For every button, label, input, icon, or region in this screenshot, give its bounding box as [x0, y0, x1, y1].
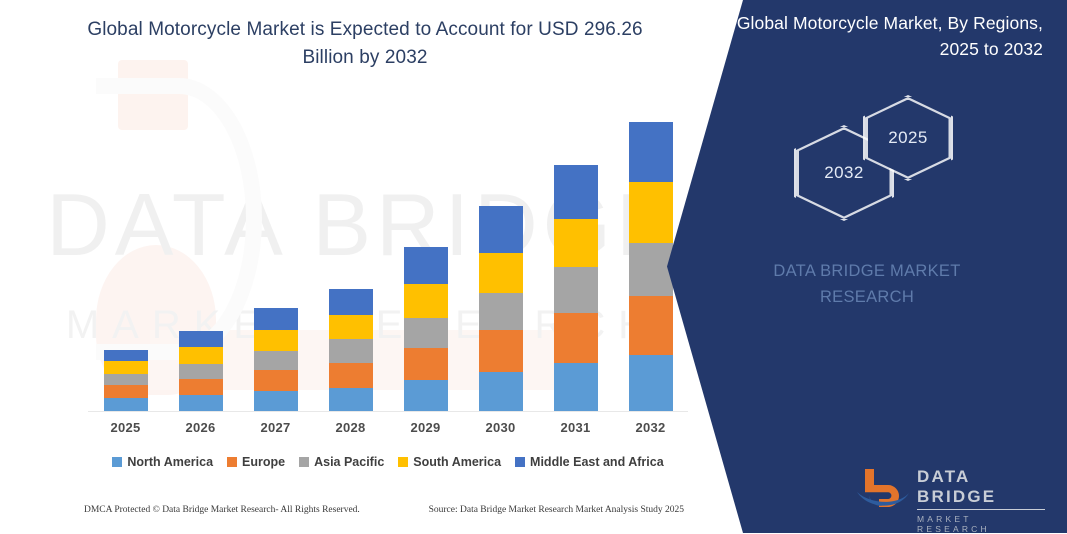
- bar-segment: [629, 355, 673, 411]
- bar-segment: [479, 330, 523, 371]
- x-axis-label-2031: 2031: [538, 420, 613, 435]
- infographic-root: DATA BRIDGE MARKET RESEARCH Global Motor…: [0, 0, 1067, 533]
- bar-segment: [479, 206, 523, 253]
- bar-segment: [104, 350, 148, 361]
- logo-title: DATA BRIDGE: [917, 467, 1045, 510]
- bar-segment: [104, 361, 148, 374]
- x-axis-label-2029: 2029: [388, 420, 463, 435]
- panel-heading: Global Motorcycle Market, By Regions, 20…: [723, 10, 1043, 62]
- logo-subtitle: MARKET RESEARCH: [917, 514, 1045, 534]
- bar-segment: [329, 388, 373, 411]
- bar-segment: [629, 122, 673, 182]
- x-axis-label-2025: 2025: [88, 420, 163, 435]
- logo-b-icon: [855, 465, 911, 509]
- bar-column-2029: [388, 118, 463, 411]
- bar-segment: [479, 293, 523, 330]
- bar-segment: [404, 348, 448, 381]
- bar-column-2026: [163, 118, 238, 411]
- bar-segment: [329, 339, 373, 362]
- hex-badge-2032-label: 2032: [824, 163, 863, 183]
- legend-swatch-icon: [398, 457, 408, 467]
- legend-item[interactable]: South America: [398, 455, 501, 469]
- bar-segment: [404, 247, 448, 285]
- legend-swatch-icon: [299, 457, 309, 467]
- bar-segment: [629, 243, 673, 297]
- x-axis-label-2028: 2028: [313, 420, 388, 435]
- legend-swatch-icon: [112, 457, 122, 467]
- chart-legend: North AmericaEuropeAsia PacificSouth Ame…: [88, 455, 688, 469]
- stacked-bar-chart: [88, 118, 688, 411]
- bar-segment: [179, 379, 223, 396]
- bar-segment: [254, 391, 298, 411]
- logo-text: DATA BRIDGE MARKET RESEARCH: [917, 467, 1045, 534]
- bar-column-2027: [238, 118, 313, 411]
- stacked-bar: [329, 289, 373, 411]
- branding-panel: Global Motorcycle Market, By Regions, 20…: [667, 0, 1067, 533]
- bar-segment: [179, 395, 223, 411]
- bar-segment: [479, 372, 523, 411]
- stacked-bar: [554, 165, 598, 411]
- brand-line-1: DATA BRIDGE MARKET: [773, 262, 960, 280]
- bar-segment: [554, 165, 598, 219]
- bar-column-2025: [88, 118, 163, 411]
- stacked-bar: [479, 206, 523, 411]
- bar-segment: [554, 363, 598, 411]
- brand-line-2: RESEARCH: [667, 284, 1067, 310]
- bar-segment: [179, 347, 223, 364]
- stacked-bar: [254, 308, 298, 411]
- bar-segment: [254, 330, 298, 351]
- brand-wordmark: DATA BRIDGE MARKET RESEARCH: [667, 258, 1067, 310]
- stacked-bar: [629, 122, 673, 411]
- bar-segment: [404, 284, 448, 318]
- legend-swatch-icon: [227, 457, 237, 467]
- bar-segment: [629, 182, 673, 243]
- legend-item[interactable]: Europe: [227, 455, 285, 469]
- page-title: Global Motorcycle Market is Expected to …: [60, 16, 670, 72]
- legend-item[interactable]: Middle East and Africa: [515, 455, 664, 469]
- bar-segment: [554, 219, 598, 267]
- hex-badge-2025-label: 2025: [888, 128, 927, 148]
- bar-segment: [104, 385, 148, 398]
- legend-item[interactable]: North America: [112, 455, 213, 469]
- bar-segment: [179, 364, 223, 379]
- bar-segment: [629, 296, 673, 355]
- bar-column-2028: [313, 118, 388, 411]
- stacked-bar: [179, 331, 223, 411]
- bar-segment: [479, 253, 523, 293]
- bar-segment: [104, 374, 148, 386]
- legend-swatch-icon: [515, 457, 525, 467]
- stacked-bar: [404, 247, 448, 411]
- bar-segment: [254, 308, 298, 330]
- bar-column-2031: [538, 118, 613, 411]
- bar-segment: [554, 267, 598, 313]
- footer-source: Source: Data Bridge Market Research Mark…: [429, 505, 684, 515]
- x-axis-labels: 20252026202720282029203020312032: [88, 420, 688, 435]
- bar-column-2030: [463, 118, 538, 411]
- stacked-bar: [104, 350, 148, 411]
- bar-segment: [554, 313, 598, 363]
- legend-item[interactable]: Asia Pacific: [299, 455, 384, 469]
- footer-copyright: DMCA Protected © Data Bridge Market Rese…: [84, 505, 360, 515]
- legend-label: Europe: [242, 455, 285, 469]
- x-axis-label-2032: 2032: [613, 420, 688, 435]
- chart-panel: DATA BRIDGE MARKET RESEARCH Global Motor…: [0, 0, 726, 533]
- bar-segment: [329, 363, 373, 388]
- legend-label: Middle East and Africa: [530, 455, 664, 469]
- bar-segment: [254, 351, 298, 370]
- company-logo: DATA BRIDGE MARKET RESEARCH: [855, 463, 1045, 511]
- x-axis-label-2027: 2027: [238, 420, 313, 435]
- legend-label: South America: [413, 455, 501, 469]
- legend-label: North America: [127, 455, 213, 469]
- bar-segment: [404, 380, 448, 411]
- bar-segment: [329, 289, 373, 315]
- footer: DMCA Protected © Data Bridge Market Rese…: [84, 505, 684, 515]
- hexagon-badges: 2032 2025: [667, 95, 1067, 220]
- bar-segment: [179, 331, 223, 347]
- bar-segment: [254, 370, 298, 391]
- legend-label: Asia Pacific: [314, 455, 384, 469]
- x-axis-line: [88, 411, 688, 412]
- bar-segment: [329, 315, 373, 339]
- bar-segment: [404, 318, 448, 347]
- bar-segment: [104, 398, 148, 411]
- x-axis-label-2030: 2030: [463, 420, 538, 435]
- x-axis-label-2026: 2026: [163, 420, 238, 435]
